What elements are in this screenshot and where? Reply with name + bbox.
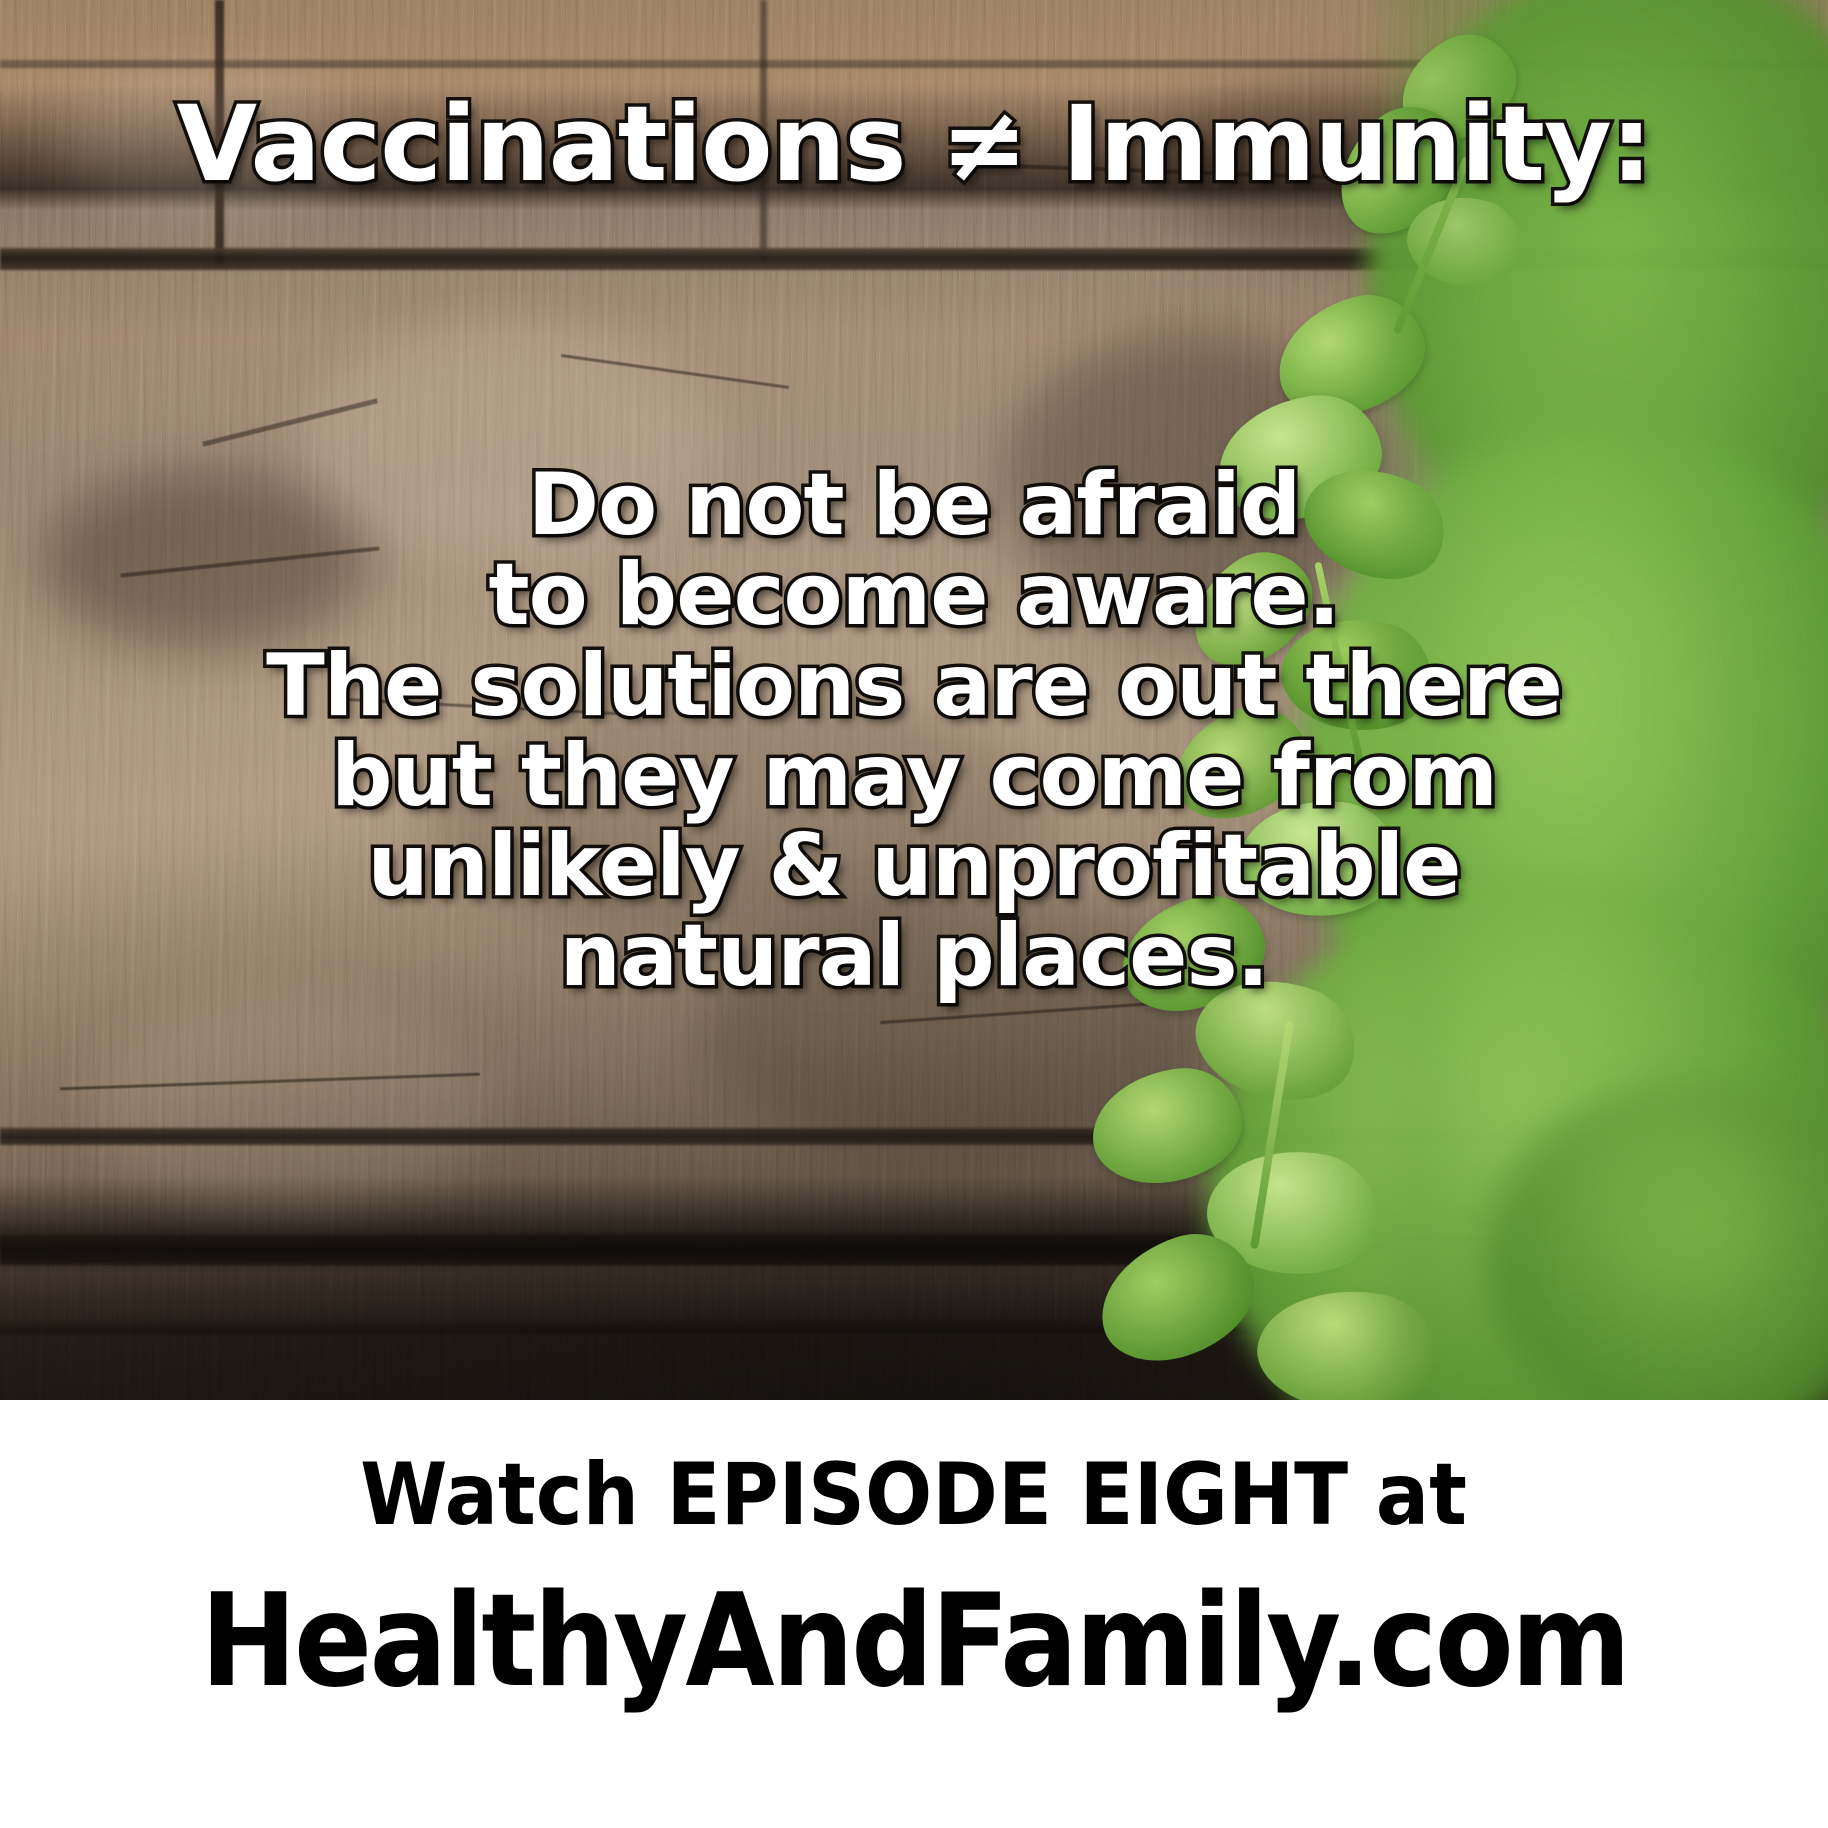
body-line-3: The solutions are out there [0, 641, 1828, 731]
poster-root: Vaccinations ≠ Immunity: Do not be afrai… [0, 0, 1828, 1828]
body-line-5: unlikely & unprofitable [0, 821, 1828, 911]
footer-band: Watch EPISODE EIGHT at HealthyAndFamily.… [0, 1400, 1828, 1828]
body-line-1: Do not be afraid [0, 460, 1828, 550]
body-line-6: natural places. [0, 911, 1828, 1001]
website-url[interactable]: HealthyAndFamily.com [200, 1578, 1628, 1706]
call-to-action-text: Watch EPISODE EIGHT at [361, 1452, 1468, 1538]
page-title: Vaccinations ≠ Immunity: [0, 92, 1828, 196]
body-line-4: but they may come from [0, 731, 1828, 821]
background-photo: Vaccinations ≠ Immunity: Do not be afrai… [0, 0, 1828, 1400]
body-text-block: Do not be afraid to become aware. The so… [0, 460, 1828, 1002]
body-line-2: to become aware. [0, 550, 1828, 640]
